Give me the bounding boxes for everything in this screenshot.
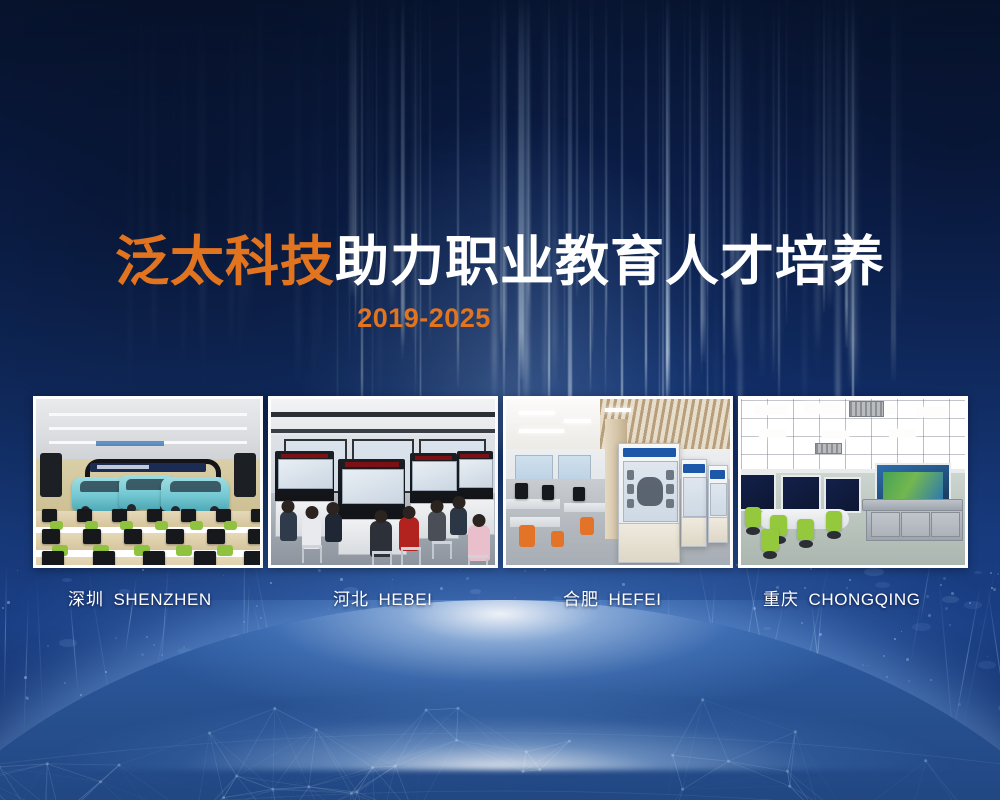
car-silhouette (637, 477, 663, 505)
monitor (124, 529, 142, 544)
year-range: 2019-2025 (0, 303, 1000, 334)
arch-banner (90, 463, 206, 472)
air-vent-1 (849, 401, 885, 417)
equipment-bench (866, 507, 962, 541)
chair-2 (580, 517, 594, 535)
photo-gallery (33, 396, 969, 568)
chair (217, 545, 233, 556)
monitor (42, 551, 64, 565)
globe-horizon (0, 600, 1000, 800)
monitor (143, 551, 165, 565)
monitor (251, 509, 260, 522)
banner-canvas: 泛太科技助力职业教育人才培养 2019-2025 (0, 0, 1000, 800)
ceiling-light-3 (519, 429, 564, 433)
display-cabinet-2 (681, 459, 708, 547)
gallery-captions: 深圳 SHENZHEN 河北 HEBEI 合肥 HEFEI 重庆 CHONGQI… (0, 585, 1000, 611)
caption-cn: 重庆 (763, 590, 799, 609)
gallery-photo-hefei[interactable] (503, 396, 733, 568)
desk-1 (506, 499, 560, 509)
display-cabinet-main (618, 443, 680, 563)
stool (302, 545, 322, 563)
ceiling-light-6 (822, 431, 849, 439)
caption-chongqing: 重庆 CHONGQING (763, 585, 921, 610)
ceiling-light-1 (519, 411, 555, 415)
caption-en: HEFEI (608, 590, 661, 609)
monitor (248, 529, 260, 544)
caption-cn: 河北 (333, 590, 369, 609)
caption-shenzhen: 深圳 SHENZHEN (68, 585, 212, 610)
wall-display-3 (824, 477, 862, 513)
ceiling-light-4 (916, 407, 947, 417)
display-cabinet-3 (708, 465, 728, 543)
student (325, 513, 342, 542)
desk-3 (564, 503, 604, 512)
training-rig-2 (338, 459, 405, 521)
page-title: 泛太科技助力职业教育人才培养 (0, 234, 1000, 290)
training-rig-1 (275, 451, 333, 503)
scene-smart-vehicle-classroom (36, 399, 260, 565)
ceiling-light-7 (889, 429, 916, 437)
title-rest: 助力职业教育人才培养 (335, 232, 885, 292)
training-rig-3 (410, 453, 457, 505)
chair (176, 545, 192, 556)
scene-smart-classroom (741, 399, 965, 565)
monitor (166, 529, 184, 544)
ceiling (36, 399, 260, 461)
wall-banner-top (96, 441, 163, 446)
screen-content (883, 472, 943, 500)
gallery-photo-chongqing[interactable] (738, 396, 968, 568)
caption-en: HEBEI (378, 590, 432, 609)
chair-3 (551, 531, 564, 547)
stool (372, 551, 392, 565)
caption-cn: 合肥 (563, 590, 599, 609)
cabinet-panel (623, 461, 678, 522)
ceiling (271, 399, 495, 439)
caption-en: CHONGQING (808, 590, 920, 609)
monitor (93, 551, 115, 565)
chair-4 (826, 511, 842, 531)
scene-electrical-training-lab (271, 399, 495, 565)
student (428, 511, 446, 541)
stool (468, 555, 488, 565)
cabinet-title-bar (623, 448, 676, 457)
speaker-left (40, 453, 62, 497)
bench-top (862, 499, 963, 511)
ceiling-light-5 (759, 429, 786, 437)
student (280, 511, 297, 541)
training-rig-4 (457, 451, 493, 501)
chair (190, 521, 203, 530)
cabinet-base (619, 523, 679, 562)
gallery-photo-hebei[interactable] (268, 396, 498, 568)
scene-vehicle-control-display-hall (506, 399, 730, 565)
caption-en: SHENZHEN (113, 590, 211, 609)
monitor (42, 529, 60, 544)
monitor (194, 551, 216, 565)
ceiling-light-2 (804, 403, 840, 414)
air-vent-2 (815, 443, 842, 454)
monitor (207, 529, 225, 544)
stool (401, 547, 421, 565)
caption-hebei: 河北 HEBEI (333, 585, 432, 610)
gallery-photo-shenzhen[interactable] (33, 396, 263, 568)
speaker-right (234, 453, 256, 497)
stool (432, 541, 452, 559)
caption-hefei: 合肥 HEFEI (563, 585, 662, 610)
chair-1 (745, 507, 761, 527)
chair (224, 521, 237, 530)
desk-2 (510, 517, 559, 527)
student (399, 517, 419, 551)
wall-display-2 (781, 475, 821, 512)
ceiling-light-4 (605, 408, 632, 412)
monitor-2 (542, 485, 554, 500)
title-brand: 泛太科技 (115, 232, 335, 292)
chair-1 (519, 525, 535, 547)
monitor-1 (515, 483, 528, 499)
chair-3 (797, 519, 814, 540)
demo-car-right (161, 477, 228, 511)
horizon-halo (0, 600, 1000, 770)
monitor (244, 551, 260, 565)
caption-cn: 深圳 (68, 590, 104, 609)
monitor (83, 529, 101, 544)
chair-5 (761, 529, 779, 551)
monitor-3 (573, 487, 585, 501)
student (450, 507, 467, 535)
wall-display-1 (741, 473, 776, 511)
ceiling-light-1 (754, 405, 788, 415)
ceiling-light-2 (564, 419, 591, 423)
